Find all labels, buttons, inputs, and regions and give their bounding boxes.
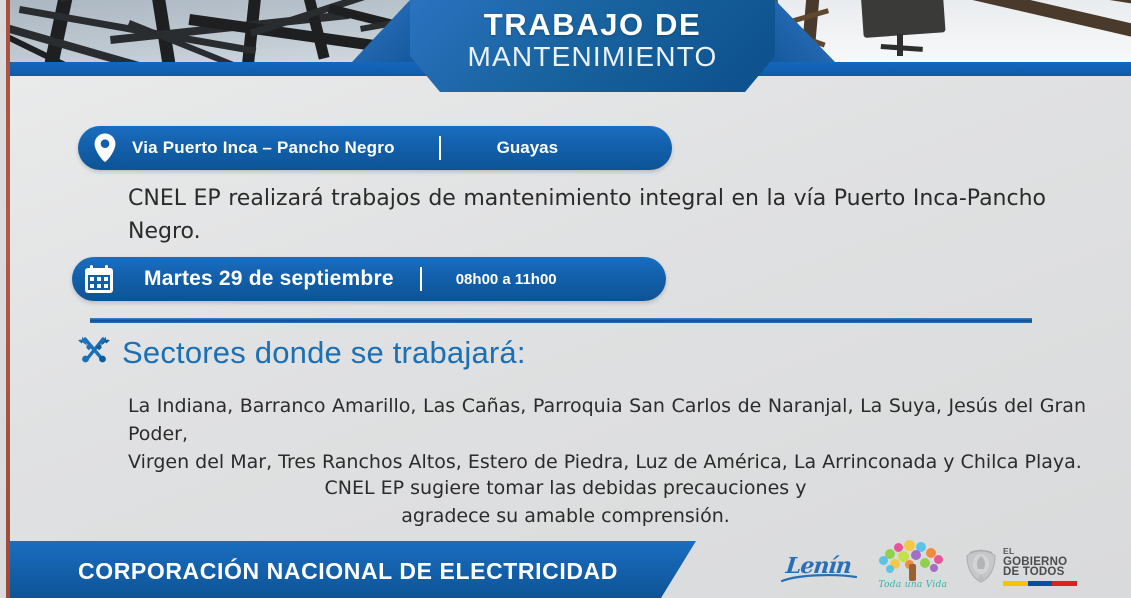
map-pin-icon	[78, 133, 132, 163]
pill-divider	[439, 136, 441, 160]
sectors-title: Sectores donde se trabajará:	[122, 335, 526, 371]
tree-slogan: Toda una Vida	[874, 580, 952, 590]
toda-una-vida-logo: Toda una Vida	[874, 540, 950, 592]
gobierno-logo: EL GOBIERNO DE TODOS	[964, 543, 1076, 589]
location-name: Via Puerto Inca – Pancho Negro	[132, 138, 395, 158]
sectors-line-2: Virgen del Mar, Tres Ranchos Altos, Este…	[128, 448, 1086, 476]
left-accent-stripe	[6, 0, 10, 598]
location-bar: Via Puerto Inca – Pancho Negro Guayas	[78, 126, 672, 170]
banner-title-line1: TRABAJO DE	[484, 8, 702, 42]
date-bar: Martes 29 de septiembre 08h00 a 11h00	[72, 257, 666, 301]
coat-of-arms-icon	[964, 548, 998, 584]
tools-icon	[76, 332, 112, 373]
section-divider	[90, 318, 1032, 323]
footer-logos: Lenín Toda un	[776, 538, 1076, 594]
banner-title-line2: MANTENIMIENTO	[468, 41, 718, 73]
time-text: 08h00 a 11h00	[456, 271, 557, 288]
closing-message: CNEL EP sugiere tomar las debidas precau…	[0, 474, 1131, 530]
calendar-icon	[72, 264, 126, 294]
description-text: CNEL EP realizará trabajos de mantenimie…	[128, 182, 1046, 248]
maintenance-notice-poster: TRABAJO DE MANTENIMIENTO Via Puerto Inca…	[0, 0, 1131, 598]
footer-title: CORPORACIÓN NACIONAL DE ELECTRICIDAD	[78, 558, 618, 585]
title-banner: TRABAJO DE MANTENIMIENTO	[410, 0, 775, 92]
tree-trunk	[909, 564, 916, 581]
province-name: Guayas	[497, 138, 558, 158]
sectors-line-1: La Indiana, Barranco Amarillo, Las Cañas…	[128, 392, 1086, 448]
closing-line-1: CNEL EP sugiere tomar las debidas precau…	[0, 474, 1131, 502]
closing-line-2: agradece su amable comprensión.	[0, 502, 1131, 530]
lenin-logo: Lenín	[776, 544, 860, 588]
date-divider	[420, 267, 422, 291]
ecuador-flag-bar	[1003, 581, 1077, 586]
date-text: Martes 29 de septiembre	[144, 267, 394, 291]
sectors-heading: Sectores donde se trabajará:	[76, 332, 526, 373]
sectors-list: La Indiana, Barranco Amarillo, Las Cañas…	[128, 392, 1086, 476]
gov-line-3: DE TODOS	[1003, 567, 1077, 578]
